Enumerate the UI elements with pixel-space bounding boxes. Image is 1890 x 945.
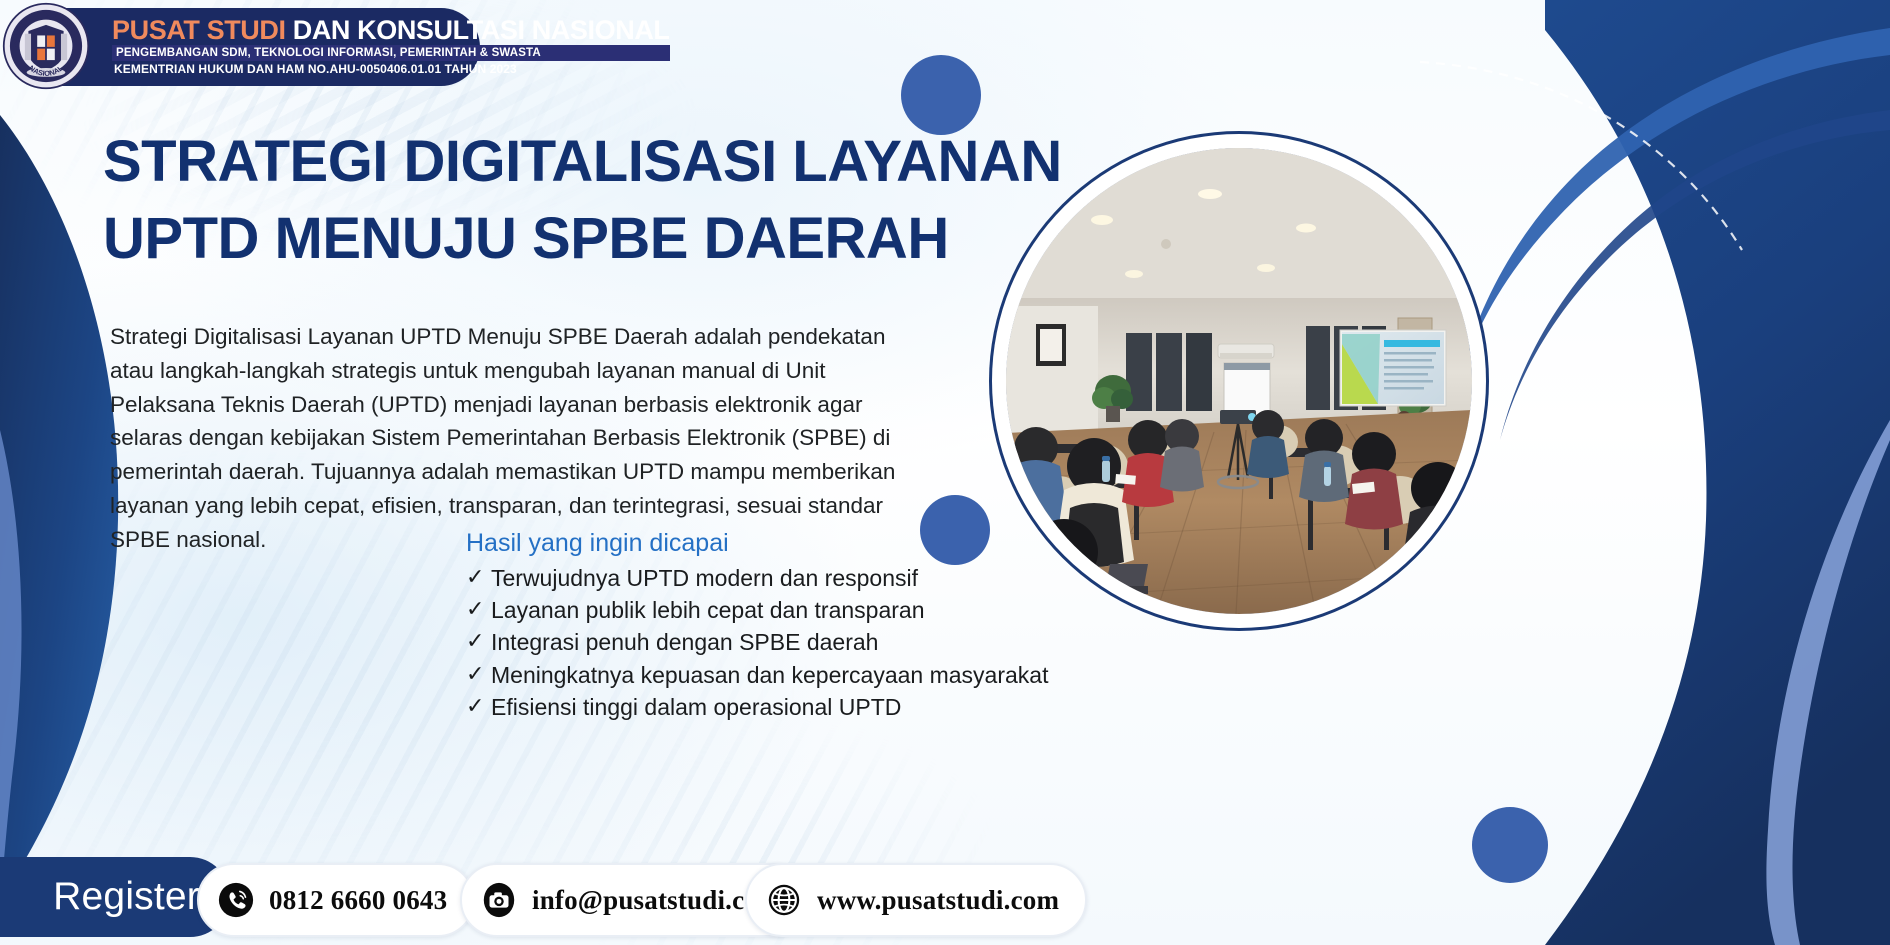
- list-item: ✓ Efisiensi tinggi dalam operasional UPT…: [466, 691, 1086, 723]
- list-item-label: Efisiensi tinggi dalam operasional UPTD: [491, 691, 901, 723]
- check-icon: ✓: [466, 562, 488, 593]
- list-item: ✓ Terwujudnya UPTD modern dan responsif: [466, 562, 1086, 594]
- list-item: ✓ Integrasi penuh dengan SPBE daerah: [466, 626, 1086, 658]
- list-item-label: Integrasi penuh dengan SPBE daerah: [491, 626, 878, 658]
- brand-legal-registration: KEMENTRIAN HUKUM DAN HAM NO.AHU-0050406.…: [112, 62, 670, 78]
- check-icon: ✓: [466, 659, 488, 690]
- register-button-label: Register: [53, 875, 200, 919]
- phone-icon: [217, 881, 255, 919]
- contact-phone[interactable]: 0812 6660 0643: [197, 863, 475, 937]
- list-item: ✓ Meningkatnya kepuasan dan kepercayaan …: [466, 659, 1086, 691]
- list-item-label: Meningkatnya kepuasan dan kepercayaan ma…: [491, 659, 1048, 691]
- check-icon: ✓: [466, 626, 488, 657]
- brand-header-bar: PUSAT STUDI DAN KONSULTASI NASIONAL PENG…: [30, 8, 480, 86]
- brand-tagline: PENGEMBANGAN SDM, TEKNOLOGI INFORMASI, P…: [112, 45, 670, 61]
- contact-footer: Register 0812 6660 0643 info@pusatstudi.…: [0, 849, 1890, 945]
- results-heading: Hasil yang ingin dicapai: [466, 527, 1086, 560]
- brand-name-white: DAN KONSULTASI NASIONAL: [293, 15, 670, 45]
- brand-name: PUSAT STUDI DAN KONSULTASI NASIONAL: [112, 17, 670, 44]
- camera-icon: [480, 881, 518, 919]
- title-line-2: UPTD MENUJU SPBE DAERAH: [103, 201, 1003, 278]
- description-paragraph: Strategi Digitalisasi Layanan UPTD Menuj…: [110, 320, 900, 556]
- poster-canvas: PUSAT STUDI DAN KONSULTASI NASIONAL PENG…: [0, 0, 1890, 945]
- email-address: info@pusatstudi.com: [532, 885, 781, 916]
- phone-number: 0812 6660 0643: [269, 885, 447, 916]
- website-url: www.pusatstudi.com: [817, 885, 1059, 916]
- decor-circle-top: [901, 55, 981, 135]
- list-item-label: Terwujudnya UPTD modern dan responsif: [491, 562, 918, 594]
- contact-website[interactable]: www.pusatstudi.com: [745, 863, 1087, 937]
- title-line-1: STRATEGI DIGITALISASI LAYANAN: [103, 124, 1003, 201]
- globe-icon: [765, 881, 803, 919]
- results-section: Hasil yang ingin dicapai ✓ Terwujudnya U…: [466, 527, 1086, 723]
- list-item: ✓ Layanan publik lebih cepat dan transpa…: [466, 594, 1086, 626]
- brand-name-orange: PUSAT STUDI: [112, 15, 286, 45]
- check-icon: ✓: [466, 594, 488, 625]
- left-swoosh: [0, 115, 118, 900]
- check-icon: ✓: [466, 691, 488, 722]
- list-item-label: Layanan publik lebih cepat dan transpara…: [491, 594, 925, 626]
- page-title: STRATEGI DIGITALISASI LAYANAN UPTD MENUJ…: [103, 124, 1003, 277]
- register-button[interactable]: Register: [0, 857, 230, 937]
- organization-logo-icon: PUSAT STUDI & KONSULTASI NASIONAL: [2, 2, 90, 90]
